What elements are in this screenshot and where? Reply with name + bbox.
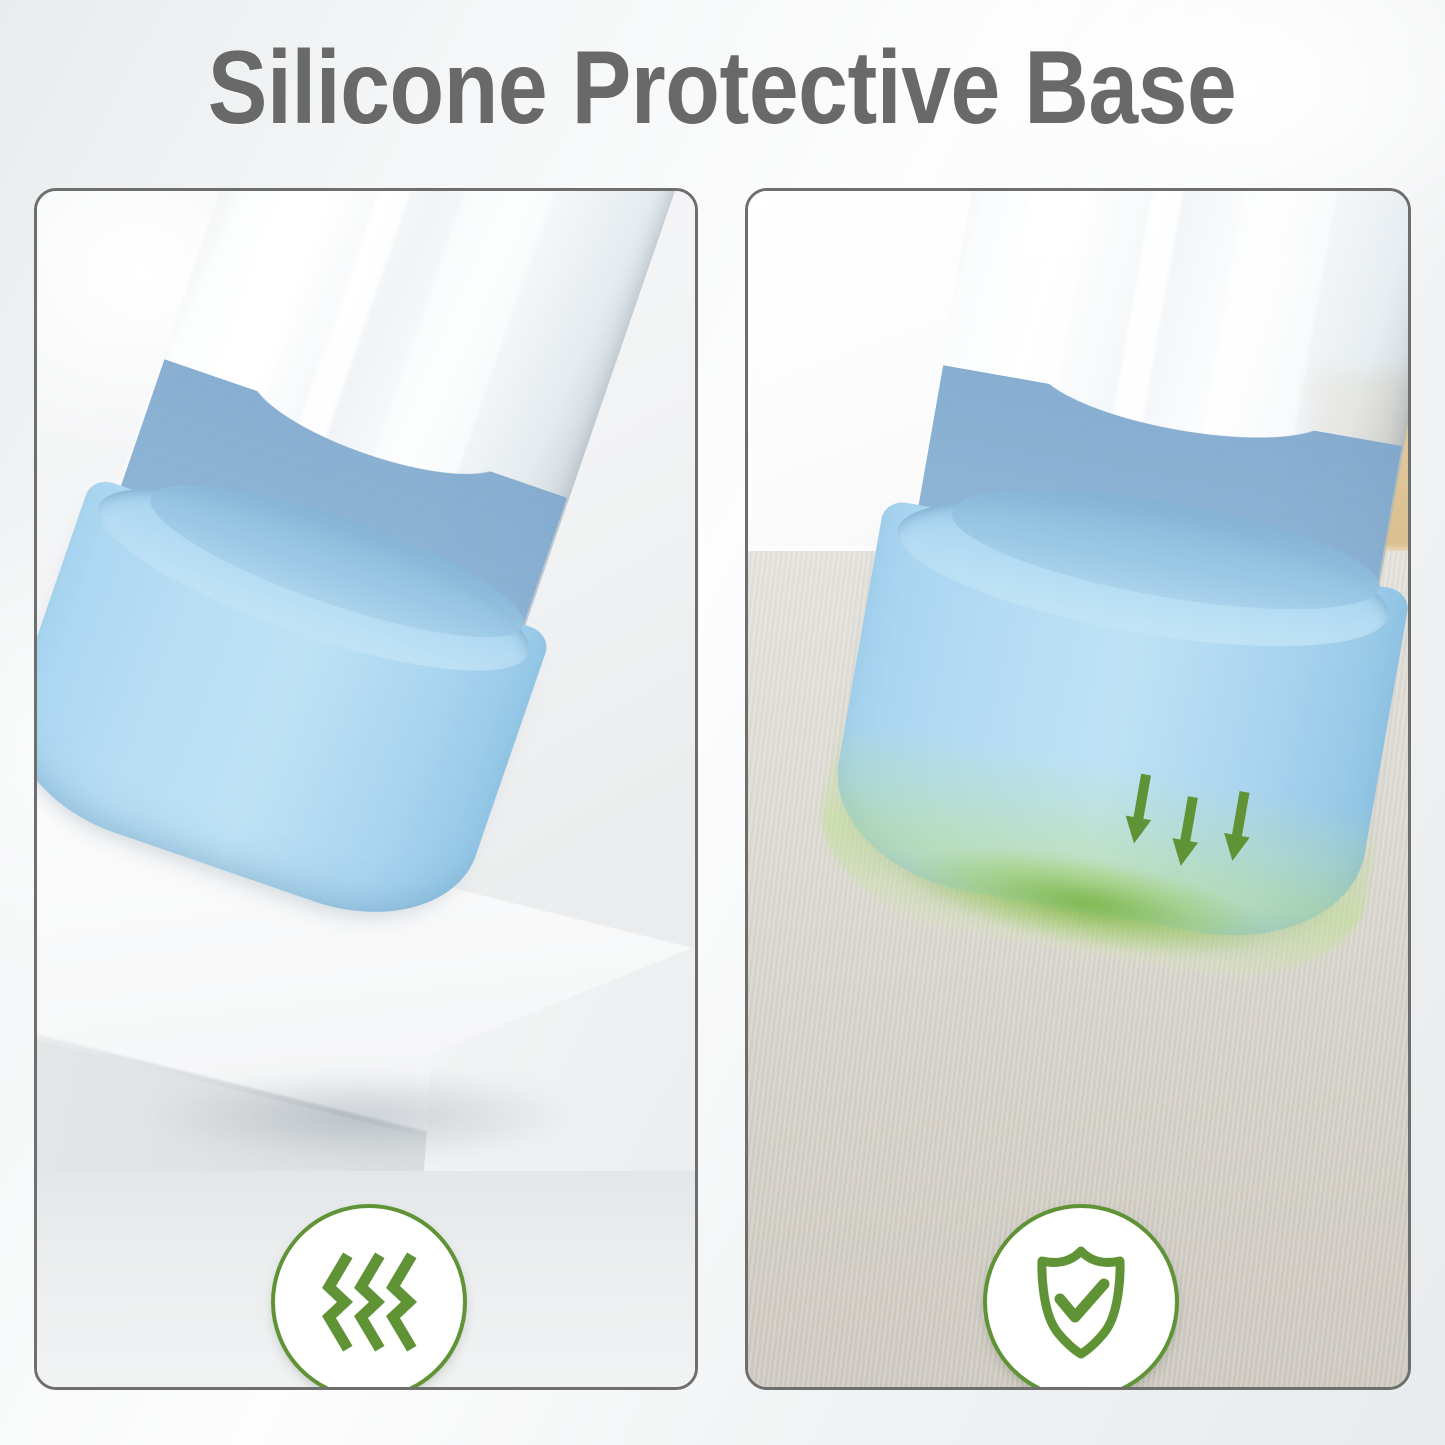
feature-panel-anti-slip: Anti-slip (34, 188, 698, 1390)
scene-anti-impact: Anti-impact (748, 191, 1408, 1387)
product-feature-graphic: Silicone Protective Base (0, 0, 1445, 1445)
shield-check-icon (983, 1204, 1179, 1390)
page-title-container: Silicone Protective Base (0, 0, 1445, 176)
badge-anti-slip: Anti-slip (37, 1204, 698, 1390)
page-title: Silicone Protective Base (208, 36, 1237, 140)
wavy-lines-icon (271, 1204, 467, 1390)
silicone-protective-base (820, 499, 1410, 958)
glass-bottle-with-silicone-base (34, 188, 698, 1009)
scene-anti-slip: Anti-slip (37, 191, 695, 1387)
bottle-contact-shadow (147, 1071, 577, 1161)
badge-anti-impact: Anti-impact (748, 1204, 1411, 1390)
feature-panel-anti-impact: Anti-impact (745, 188, 1411, 1390)
